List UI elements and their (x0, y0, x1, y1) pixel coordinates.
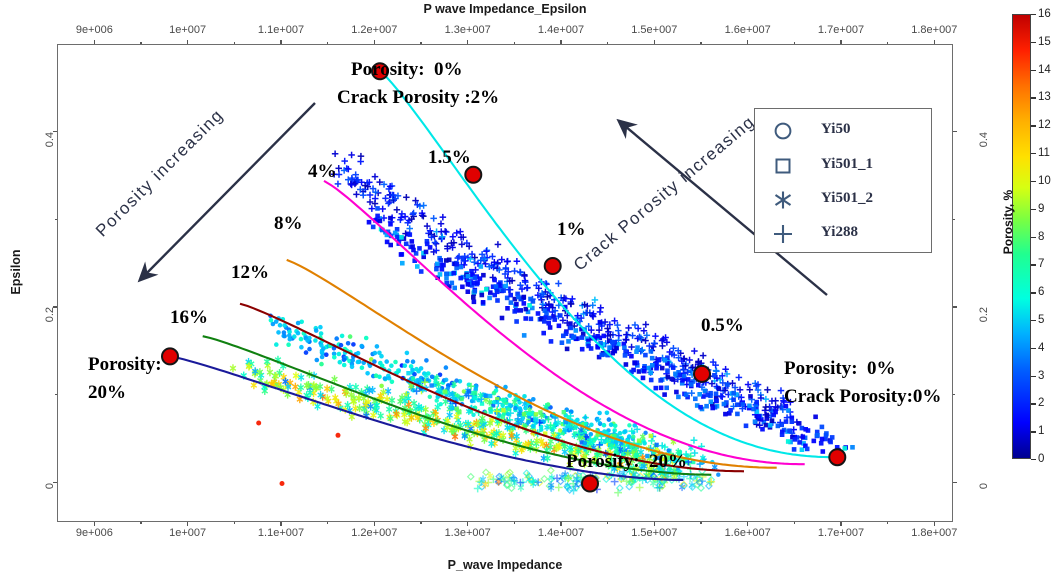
asterisk-marker (378, 412, 384, 420)
square-marker (786, 439, 791, 444)
square-marker (375, 214, 380, 219)
colorbar-tick-9 (1031, 209, 1036, 210)
x-tick-label-top-7: 1.6e+007 (725, 24, 771, 36)
square-marker (659, 386, 664, 391)
circle-marker (299, 345, 304, 350)
plus-marker (636, 484, 644, 492)
circle-marker (332, 355, 337, 360)
square-marker (698, 405, 703, 410)
circle-marker (605, 411, 610, 416)
crack-label-1_5pct: 1.5% (428, 147, 471, 169)
circle-marker (607, 417, 612, 422)
circle-marker (403, 363, 408, 368)
square-marker (536, 311, 541, 316)
square-marker (487, 296, 492, 301)
colorbar-tick-label-12: 12 (1038, 119, 1051, 131)
square-marker (757, 414, 762, 419)
square-marker (649, 378, 654, 383)
square-marker (731, 397, 736, 402)
square-marker (673, 372, 678, 377)
plus-marker (433, 240, 440, 247)
square-marker (410, 239, 415, 244)
square-marker (411, 248, 416, 253)
square-marker (516, 295, 521, 300)
square-marker (813, 415, 818, 420)
square-marker (534, 412, 538, 416)
circle-marker (286, 342, 291, 347)
square-marker (793, 437, 798, 442)
colorbar-tick-1 (1031, 431, 1036, 432)
circle-marker (282, 330, 287, 335)
circle-marker (609, 422, 614, 427)
y-tick-label-left-2: 0.4 (44, 132, 56, 147)
circle-marker (280, 481, 285, 486)
square-marker (480, 293, 485, 298)
circle-marker (609, 443, 613, 447)
square-marker (514, 302, 519, 307)
square-marker (557, 324, 562, 329)
circle-marker (583, 415, 587, 419)
circle-marker (375, 344, 380, 349)
endpoint-c1 (545, 258, 561, 274)
square-marker (735, 412, 740, 417)
porosity-increasing-arrow-line (140, 103, 315, 280)
square-marker (649, 434, 653, 438)
square-marker (522, 301, 527, 306)
square-marker (819, 441, 824, 446)
circle-marker (364, 336, 369, 341)
circle-marker (513, 406, 518, 411)
square-marker (561, 334, 566, 339)
square-marker (467, 389, 471, 393)
plus-marker-icon (769, 216, 811, 252)
square-marker (488, 394, 492, 398)
square-marker (623, 353, 628, 358)
square-marker (722, 402, 727, 407)
x-tick-label-top-5: 1.4e+007 (538, 24, 584, 36)
colorbar-tick-label-11: 11 (1038, 147, 1050, 159)
square-marker (637, 369, 642, 374)
circle-marker (410, 368, 415, 373)
square-marker (676, 395, 681, 400)
x-tick-label-bottom-6: 1.5e+007 (631, 527, 677, 539)
x-tick-label-top-4: 1.3e+007 (445, 24, 491, 36)
square-marker (754, 400, 759, 405)
square-marker (801, 434, 806, 439)
x-tick-label-bottom-3: 1.2e+007 (351, 527, 397, 539)
plus-marker (611, 478, 619, 486)
plus-marker (769, 398, 776, 405)
plus-marker (403, 194, 410, 201)
plus-marker (615, 327, 622, 334)
circle-marker (372, 359, 377, 364)
square-marker (610, 351, 615, 356)
square-marker (658, 378, 663, 383)
colorbar-tick-16 (1031, 14, 1036, 15)
diamond-marker (541, 476, 547, 482)
colorbar-tick-label-6: 6 (1038, 286, 1044, 298)
plus-marker (691, 437, 698, 444)
square-marker (457, 410, 461, 414)
x-tick-label-top-0: 9e+006 (76, 24, 113, 36)
square-marker (388, 222, 393, 227)
y-tick-label-left-0: 0 (44, 483, 56, 489)
porosity-label-12pct: 12% (231, 262, 269, 284)
square-marker (472, 281, 477, 286)
circle-marker (411, 377, 415, 381)
plus-marker (440, 214, 447, 221)
square-marker (663, 358, 668, 363)
plus-marker (623, 331, 630, 338)
square-marker (505, 306, 510, 311)
square-marker (768, 423, 773, 428)
x-tick-label-bottom-5: 1.4e+007 (538, 527, 584, 539)
square-marker (666, 375, 671, 380)
circle-marker (405, 351, 410, 356)
legend-label-yi50: Yi50 (821, 121, 850, 138)
square-marker (547, 316, 552, 321)
plus-marker (700, 352, 707, 359)
colorbar-title: Porosity, % (1001, 177, 1015, 267)
square-marker (665, 368, 670, 373)
square-marker (792, 447, 797, 452)
colorbar-tick-label-9: 9 (1038, 203, 1044, 215)
anno-right-line1: Porosity: 0% (784, 358, 896, 380)
circle-marker (315, 358, 320, 363)
y-tick-label-right-1: 0.2 (978, 307, 990, 322)
plus-marker (597, 309, 604, 316)
plus-marker (483, 248, 490, 255)
square-marker (429, 383, 433, 387)
plus-marker (511, 268, 518, 275)
square-marker (598, 320, 603, 325)
square-marker (434, 267, 439, 272)
circle-marker (526, 420, 530, 424)
anno-right-line2: Crack Porosity:0% (784, 386, 941, 408)
square-marker (821, 449, 826, 454)
legend-label-yi501-2: Yi501_2 (821, 190, 873, 207)
square-marker (479, 264, 484, 269)
circle-marker (318, 325, 323, 330)
legend-row-yi288[interactable]: Yi288 (755, 216, 933, 252)
y-axis-title: Epsilon (9, 232, 23, 312)
legend-row-yi501-2[interactable]: Yi501_2 (755, 182, 933, 218)
x-tick-label-bottom-8: 1.7e+007 (818, 527, 864, 539)
circle-marker (356, 360, 361, 365)
square-marker (425, 242, 430, 247)
plus-marker (341, 158, 348, 165)
square-marker (443, 389, 447, 393)
square-marker (566, 339, 571, 344)
square-marker (731, 391, 736, 396)
anno-left-line2: 20% (88, 382, 126, 404)
circle-marker (627, 423, 631, 427)
square-marker (395, 235, 400, 240)
square-marker (602, 334, 607, 339)
plus-marker (369, 205, 376, 212)
circle-marker (342, 363, 347, 368)
square-marker (388, 216, 393, 221)
square-marker (509, 300, 514, 305)
endpoint-c0_5 (694, 366, 710, 382)
anno-top-left-line1: Porosity: 0% (351, 59, 463, 81)
square-marker (494, 284, 499, 289)
endpoint-p0-c0 (829, 449, 845, 465)
circle-marker (389, 363, 394, 368)
colorbar-tick-label-10: 10 (1038, 175, 1051, 187)
square-marker (740, 402, 745, 407)
square-marker (614, 346, 619, 351)
colorbar-tick-label-7: 7 (1038, 258, 1044, 270)
circle-marker (276, 330, 281, 335)
square-marker (712, 373, 717, 378)
circle-marker (278, 323, 283, 328)
square-marker (723, 412, 728, 417)
plus-marker (722, 366, 729, 373)
square-marker (438, 272, 443, 277)
square-marker (682, 374, 687, 379)
circle-marker (374, 373, 379, 378)
asterisk-marker (386, 405, 392, 413)
circle-marker (292, 334, 297, 339)
plus-marker (360, 192, 367, 199)
plus-marker (453, 230, 460, 237)
square-marker (674, 390, 679, 395)
colorbar-tick-4 (1031, 348, 1036, 349)
square-marker (624, 362, 629, 367)
square-marker (444, 272, 449, 277)
x-tick-label-top-2: 1.1e+007 (258, 24, 304, 36)
square-marker (371, 225, 376, 230)
circle-marker (348, 334, 353, 339)
plus-marker (569, 296, 576, 303)
circle-marker (256, 421, 261, 426)
square-marker (562, 410, 566, 414)
square-marker (580, 335, 585, 340)
square-marker (607, 345, 612, 350)
x-tick-label-bottom-9: 1.8e+007 (911, 527, 957, 539)
circle-marker (390, 380, 395, 385)
endpoint-p20-bot (582, 476, 598, 492)
square-marker (552, 317, 557, 322)
circle-marker (305, 338, 310, 343)
square-marker (595, 334, 600, 339)
square-marker (466, 282, 471, 287)
square-marker (488, 290, 493, 295)
plus-marker (763, 396, 770, 403)
circle-marker (597, 411, 602, 416)
square-marker (548, 325, 553, 330)
square-marker (549, 339, 554, 344)
plus-marker (691, 348, 698, 355)
circle-marker (377, 351, 382, 356)
square-marker-icon (769, 148, 811, 184)
square-marker (680, 378, 685, 383)
square-marker (662, 392, 667, 397)
plus-marker (643, 321, 650, 328)
square-marker (501, 408, 505, 412)
square-marker (406, 371, 410, 375)
square-marker (447, 258, 452, 263)
circle-marker (346, 341, 351, 346)
x-tick-label-top-3: 1.2e+007 (351, 24, 397, 36)
square-marker (546, 321, 551, 326)
square-marker (502, 398, 506, 402)
x-tick-label-top-1: 1e+007 (169, 24, 206, 36)
square-marker (478, 276, 483, 281)
plus-marker (459, 241, 466, 248)
square-marker (693, 397, 698, 402)
circle-marker (531, 424, 535, 428)
square-marker (459, 397, 463, 401)
square-marker (523, 316, 528, 321)
square-marker (569, 326, 574, 331)
colorbar-tick-10 (1031, 181, 1036, 182)
square-marker (706, 393, 711, 398)
square-marker (635, 345, 640, 350)
circle-marker (365, 371, 370, 376)
square-marker (473, 276, 478, 281)
circle-marker (324, 352, 329, 357)
square-marker (378, 219, 383, 224)
plus-marker (449, 244, 456, 251)
square-marker (779, 422, 784, 427)
circle-marker (383, 376, 388, 381)
plus-marker (555, 484, 563, 492)
square-marker (473, 396, 477, 400)
square-marker (696, 383, 701, 388)
square-marker (450, 281, 455, 286)
circle-marker (405, 359, 410, 364)
square-marker (709, 399, 714, 404)
square-marker (518, 308, 523, 313)
square-marker (503, 284, 508, 289)
square-marker (580, 347, 585, 352)
colorbar-tick-14 (1031, 70, 1036, 71)
x-tick-label-top-8: 1.7e+007 (818, 24, 864, 36)
circle-marker (384, 359, 389, 364)
square-marker (484, 287, 489, 292)
square-marker (790, 419, 795, 424)
plus-marker (379, 206, 386, 213)
square-marker (797, 440, 802, 445)
square-marker (784, 419, 789, 424)
square-marker (735, 402, 740, 407)
x-tick-label-bottom-7: 1.6e+007 (725, 527, 771, 539)
square-marker (484, 394, 488, 398)
plus-marker (336, 171, 343, 178)
square-marker (599, 353, 604, 358)
square-marker (522, 412, 526, 416)
plus-marker (628, 344, 635, 351)
asterisk-marker (230, 364, 236, 372)
plus-marker (652, 333, 659, 340)
square-marker (820, 437, 825, 442)
plus-marker (736, 374, 743, 381)
circle-marker (319, 331, 324, 336)
colorbar-tick-label-14: 14 (1038, 64, 1051, 76)
square-marker (512, 309, 517, 314)
plus-marker (394, 207, 401, 214)
square-marker (670, 377, 675, 382)
square-marker (725, 382, 730, 387)
circle-marker (351, 342, 356, 347)
legend[interactable]: Yi50 Yi501_1 Yi501_2 Yi288 (754, 108, 932, 253)
square-marker (522, 333, 527, 338)
square-marker (634, 349, 639, 354)
square-marker (824, 431, 829, 436)
legend-row-yi50[interactable]: Yi50 (755, 113, 933, 149)
plus-marker (635, 325, 642, 332)
circle-marker (462, 389, 466, 393)
square-marker (747, 404, 752, 409)
circle-marker (444, 365, 449, 370)
square-marker (400, 261, 405, 266)
circle-marker (583, 441, 587, 445)
circle-marker (393, 360, 398, 365)
square-marker (460, 285, 465, 290)
plus-marker (457, 228, 464, 235)
circle-marker (613, 424, 618, 429)
plus-marker (353, 191, 360, 198)
square-marker (843, 446, 848, 451)
circle-marker (287, 333, 292, 338)
plus-marker (450, 233, 457, 240)
circle-marker (338, 360, 343, 365)
plus-marker (764, 387, 771, 394)
circle-marker (319, 362, 324, 367)
square-marker (642, 369, 647, 374)
square-marker (815, 433, 820, 438)
y-tick-label-left-1: 0.2 (44, 307, 56, 322)
square-marker (850, 445, 855, 450)
circle-marker (424, 358, 429, 363)
square-marker (399, 252, 404, 257)
asterisk-marker (545, 454, 551, 462)
square-marker (529, 317, 534, 322)
plus-marker (372, 173, 379, 180)
square-marker (501, 414, 505, 418)
square-marker (744, 424, 749, 429)
square-marker (495, 298, 500, 303)
square-marker (492, 278, 497, 283)
square-marker (531, 299, 536, 304)
square-marker (571, 335, 576, 340)
anno-top-left-line2: Crack Porosity :2% (337, 87, 499, 109)
circle-marker (359, 344, 364, 349)
plus-marker (430, 215, 437, 222)
square-marker (452, 286, 457, 291)
plus-marker (639, 347, 646, 354)
legend-row-yi501-1[interactable]: Yi501_1 (755, 148, 933, 184)
square-marker (481, 300, 486, 305)
square-marker (399, 235, 404, 240)
square-marker (408, 232, 413, 237)
square-marker (684, 392, 689, 397)
y-tick-label-right-2: 0.4 (978, 132, 990, 147)
colorbar-tick-label-1: 1 (1038, 425, 1044, 437)
colorbar-tick-12 (1031, 125, 1036, 126)
circle-marker (360, 365, 365, 370)
square-marker (704, 404, 709, 409)
x-axis-title: P_wave Impedance (0, 558, 1010, 572)
square-marker (416, 378, 420, 382)
circle-marker (320, 355, 325, 360)
circle-marker (339, 343, 344, 348)
square-marker (541, 331, 546, 336)
square-marker (765, 413, 770, 418)
square-marker (514, 319, 519, 324)
